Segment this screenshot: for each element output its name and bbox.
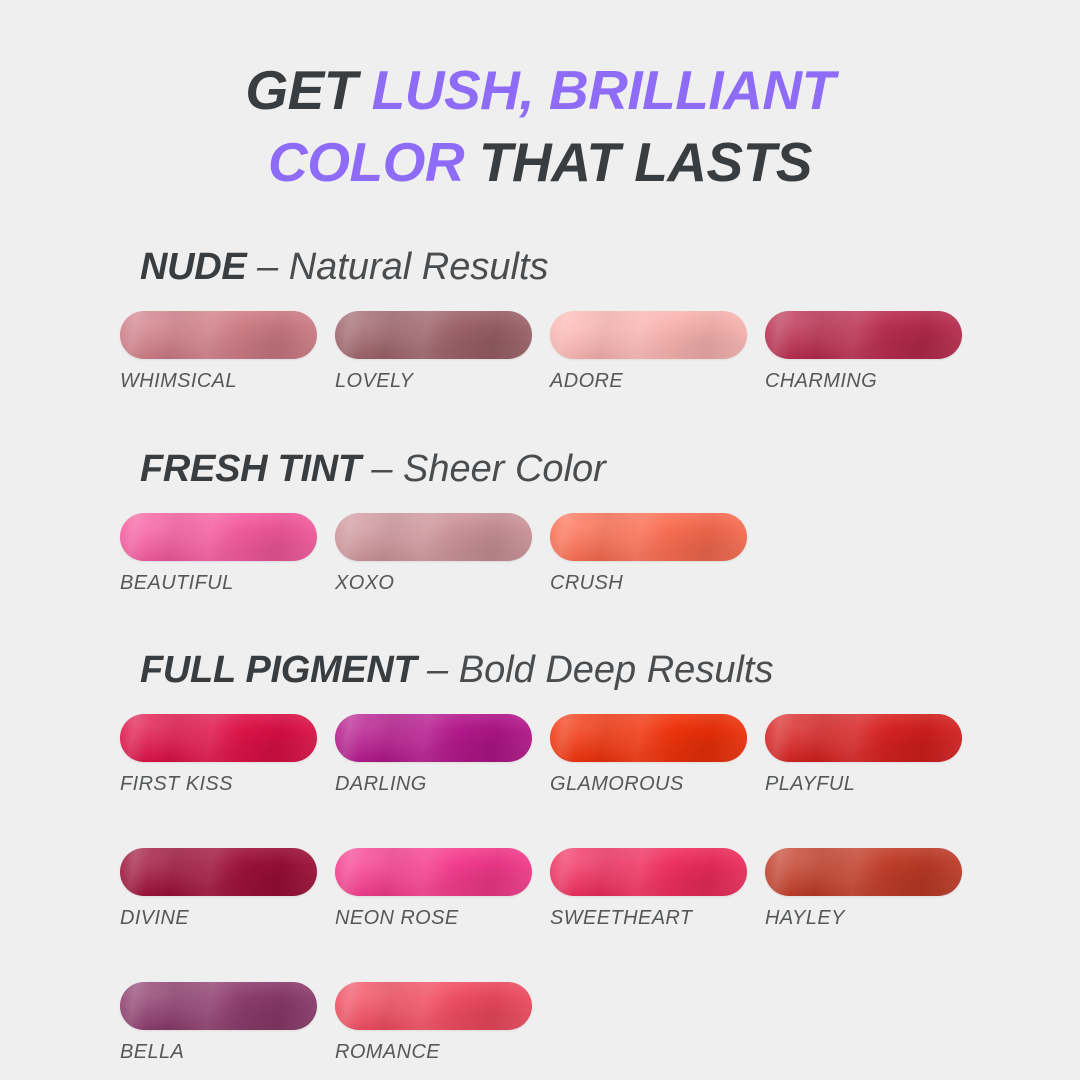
shade-swatch[interactable]	[120, 311, 317, 359]
section-heading-nude: NUDE – Natural Results	[140, 245, 980, 289]
swatch-grid-fresh-tint: BEAUTIFULXOXOCRUSH	[120, 513, 980, 595]
section-heading-full-pigment: FULL PIGMENT – Bold Deep Results	[140, 648, 980, 692]
swatch-cell[interactable]: SWEETHEART	[550, 848, 765, 930]
swatch-cell[interactable]: FIRST KISS	[120, 714, 335, 796]
shade-name-label: CHARMING	[765, 370, 980, 393]
headline-line-1: GET LUSH, BRILLIANT	[245, 59, 834, 121]
shade-name-label: LOVELY	[335, 370, 550, 393]
shade-name-label: SWEETHEART	[550, 907, 765, 930]
swatch-cell[interactable]: DARLING	[335, 714, 550, 796]
shade-swatch[interactable]	[550, 513, 747, 561]
swatch-cell[interactable]: HAYLEY	[765, 848, 980, 930]
section-nude: NUDE – Natural Results WHIMSICALLOVELYAD…	[120, 245, 980, 393]
section-description-label: – Bold Deep Results	[427, 649, 773, 691]
swatch-cell[interactable]: PLAYFUL	[765, 714, 980, 796]
headline-line-2: COLOR THAT LASTS	[268, 131, 812, 193]
headline-accent-color: COLOR	[268, 131, 479, 193]
swatch-cell[interactable]: CHARMING	[765, 311, 980, 393]
section-heading-fresh-tint: FRESH TINT – Sheer Color	[140, 447, 980, 491]
shade-name-label: FIRST KISS	[120, 773, 335, 796]
shade-name-label: DARLING	[335, 773, 550, 796]
lipstick-shade-chart: GET LUSH, BRILLIANT COLOR THAT LASTS NUD…	[0, 0, 1080, 1080]
shade-name-label: ADORE	[550, 370, 765, 393]
section-category-label: FRESH TINT	[140, 448, 361, 490]
swatch-cell[interactable]: XOXO	[335, 513, 550, 595]
shade-swatch[interactable]	[335, 311, 532, 359]
swatch-grid-full-pigment: FIRST KISSDARLINGGLAMOROUSPLAYFULDIVINEN…	[120, 714, 980, 1064]
shade-name-label: HAYLEY	[765, 907, 980, 930]
section-description-label: – Sheer Color	[371, 448, 605, 490]
shade-name-label: XOXO	[335, 572, 550, 595]
shade-swatch[interactable]	[550, 714, 747, 762]
shade-swatch[interactable]	[335, 848, 532, 896]
shade-swatch[interactable]	[765, 714, 962, 762]
shade-swatch[interactable]	[765, 311, 962, 359]
shade-swatch[interactable]	[120, 982, 317, 1030]
shade-swatch[interactable]	[335, 714, 532, 762]
page-title: GET LUSH, BRILLIANT COLOR THAT LASTS	[0, 54, 1080, 198]
section-category-label: FULL PIGMENT	[140, 649, 416, 691]
section-fresh-tint: FRESH TINT – Sheer Color BEAUTIFULXOXOCR…	[120, 447, 980, 595]
swatch-cell[interactable]: WHIMSICAL	[120, 311, 335, 393]
shade-name-label: NEON ROSE	[335, 907, 550, 930]
swatch-cell[interactable]: ADORE	[550, 311, 765, 393]
swatch-grid-nude: WHIMSICALLOVELYADORECHARMING	[120, 311, 980, 393]
headline-text-that-lasts: THAT LASTS	[479, 131, 812, 193]
headline-text-get: GET	[245, 59, 371, 121]
shade-name-label: CRUSH	[550, 572, 765, 595]
shade-name-label: BEAUTIFUL	[120, 572, 335, 595]
headline-accent-lush-brilliant: LUSH, BRILLIANT	[372, 59, 835, 121]
section-description-label: – Natural Results	[257, 246, 548, 288]
shade-name-label: GLAMOROUS	[550, 773, 765, 796]
swatch-cell[interactable]: ROMANCE	[335, 982, 550, 1064]
shade-swatch[interactable]	[550, 848, 747, 896]
shade-name-label: WHIMSICAL	[120, 370, 335, 393]
shade-swatch[interactable]	[335, 982, 532, 1030]
shade-swatch[interactable]	[335, 513, 532, 561]
section-category-label: NUDE	[140, 246, 246, 288]
swatch-cell[interactable]: BEAUTIFUL	[120, 513, 335, 595]
shade-name-label: PLAYFUL	[765, 773, 980, 796]
swatch-cell[interactable]: BELLA	[120, 982, 335, 1064]
swatch-cell[interactable]: LOVELY	[335, 311, 550, 393]
swatch-cell[interactable]: GLAMOROUS	[550, 714, 765, 796]
shade-swatch[interactable]	[120, 848, 317, 896]
shade-name-label: ROMANCE	[335, 1041, 550, 1064]
swatch-cell[interactable]: CRUSH	[550, 513, 765, 595]
shade-name-label: DIVINE	[120, 907, 335, 930]
shade-swatch[interactable]	[550, 311, 747, 359]
shade-swatch[interactable]	[765, 848, 962, 896]
section-full-pigment: FULL PIGMENT – Bold Deep Results FIRST K…	[120, 648, 980, 1064]
shade-name-label: BELLA	[120, 1041, 335, 1064]
swatch-cell[interactable]: DIVINE	[120, 848, 335, 930]
shade-swatch[interactable]	[120, 513, 317, 561]
shade-swatch[interactable]	[120, 714, 317, 762]
swatch-cell[interactable]: NEON ROSE	[335, 848, 550, 930]
